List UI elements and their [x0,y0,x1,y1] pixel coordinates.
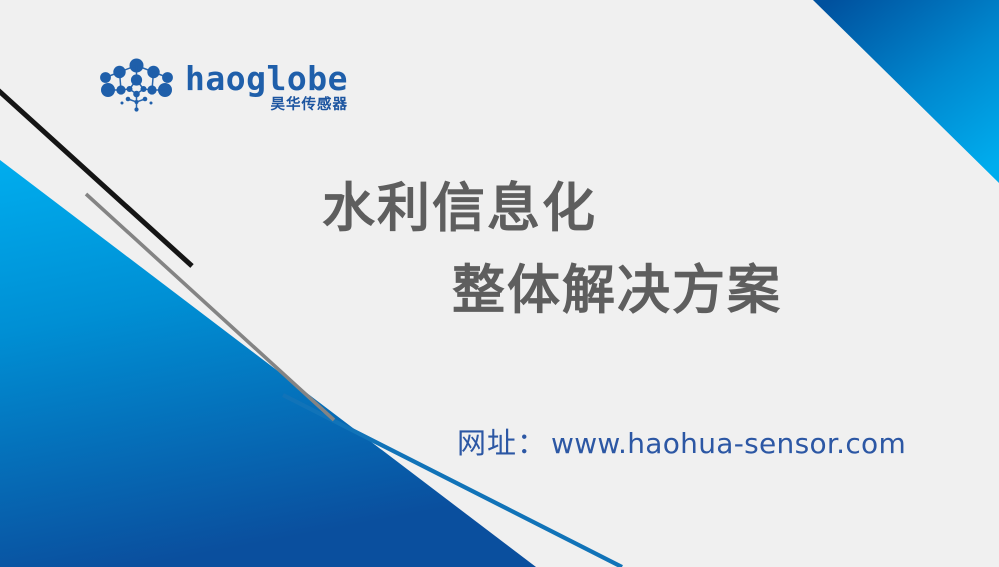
right-blue-triangle [813,0,999,183]
company-logo: haoglobe 昊华传感器 [97,58,348,116]
headline-line-1: 水利信息化 [322,168,922,250]
website-line: 网址： www.haohua-sensor.com [457,420,906,462]
headline-line-2: 整体解决方案 [322,250,922,332]
haoglobe-network-dots-logo-icon [97,58,177,116]
gray-diagonal-accent-line [86,194,334,420]
logo-subtitle-text: 昊华传感器 [270,98,348,113]
website-url[interactable]: www.haohua-sensor.com [551,427,906,460]
logo-wordmark-group: haoglobe 昊华传感器 [185,62,348,113]
logo-wordmark-text: haoglobe [185,62,348,95]
title-slide: haoglobe 昊华传感器 水利信息化 整体解决方案 网址： www.haoh… [0,0,999,567]
black-diagonal-accent-line [0,90,192,266]
slide-headline: 水利信息化 整体解决方案 [322,168,922,332]
website-label: 网址： [457,420,547,462]
